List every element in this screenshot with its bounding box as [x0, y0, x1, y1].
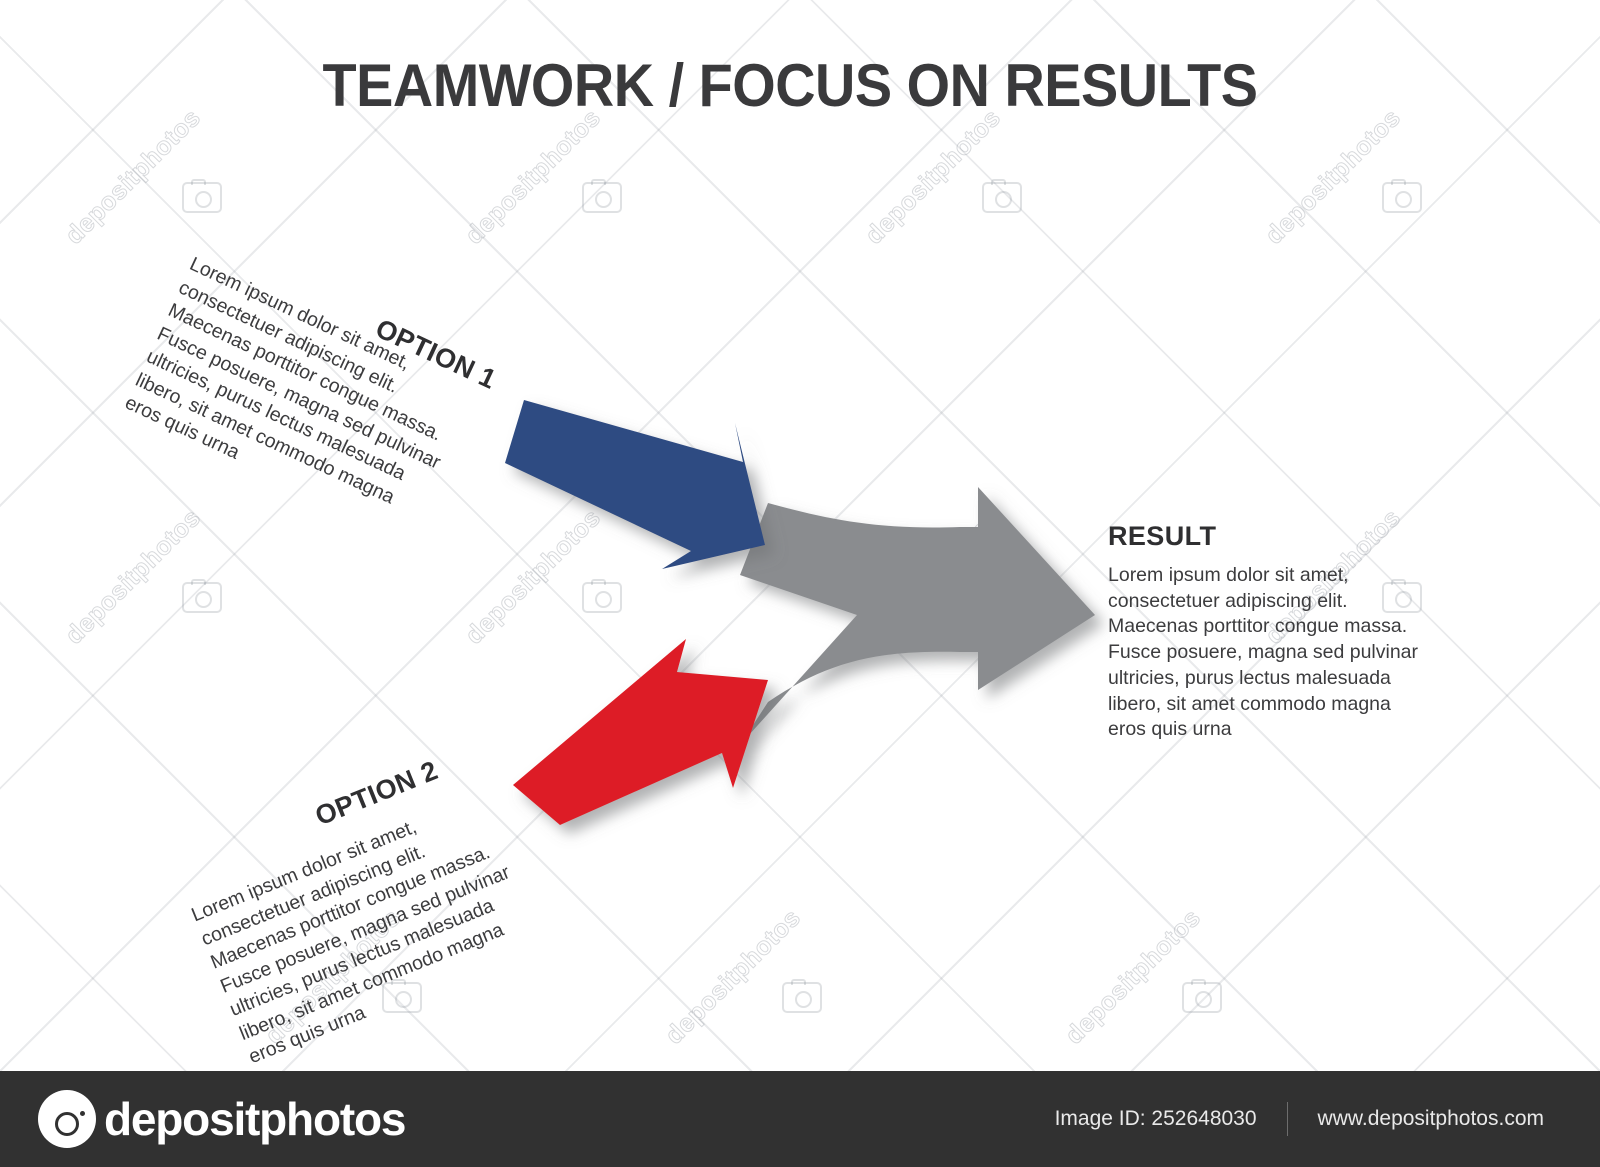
page-title: TEAMWORK / FOCUS ON RESULTS	[55, 54, 1524, 117]
infographic-canvas: depositphotos depositphotos depositphoto…	[0, 0, 1600, 1167]
result-heading: RESULT	[1108, 521, 1418, 552]
brand-logo[interactable]: depositphotos	[38, 1090, 405, 1148]
result-arrow	[740, 487, 1095, 745]
image-id-label: Image ID: 252648030	[1055, 1107, 1257, 1131]
footer-bar: depositphotos Image ID: 252648030 www.de…	[0, 1071, 1600, 1167]
result-body: Lorem ipsum dolor sit amet, consectetuer…	[1108, 563, 1418, 743]
option1-arrow	[505, 400, 765, 569]
result-block: RESULT Lorem ipsum dolor sit amet, conse…	[1108, 521, 1418, 743]
camera-icon	[38, 1090, 96, 1148]
website-link[interactable]: www.depositphotos.com	[1318, 1107, 1544, 1131]
brand-name: depositphotos	[104, 1092, 405, 1146]
footer-meta: Image ID: 252648030 www.depositphotos.co…	[1055, 1102, 1544, 1136]
footer-divider	[1287, 1102, 1288, 1136]
option2-arrow	[513, 639, 768, 825]
